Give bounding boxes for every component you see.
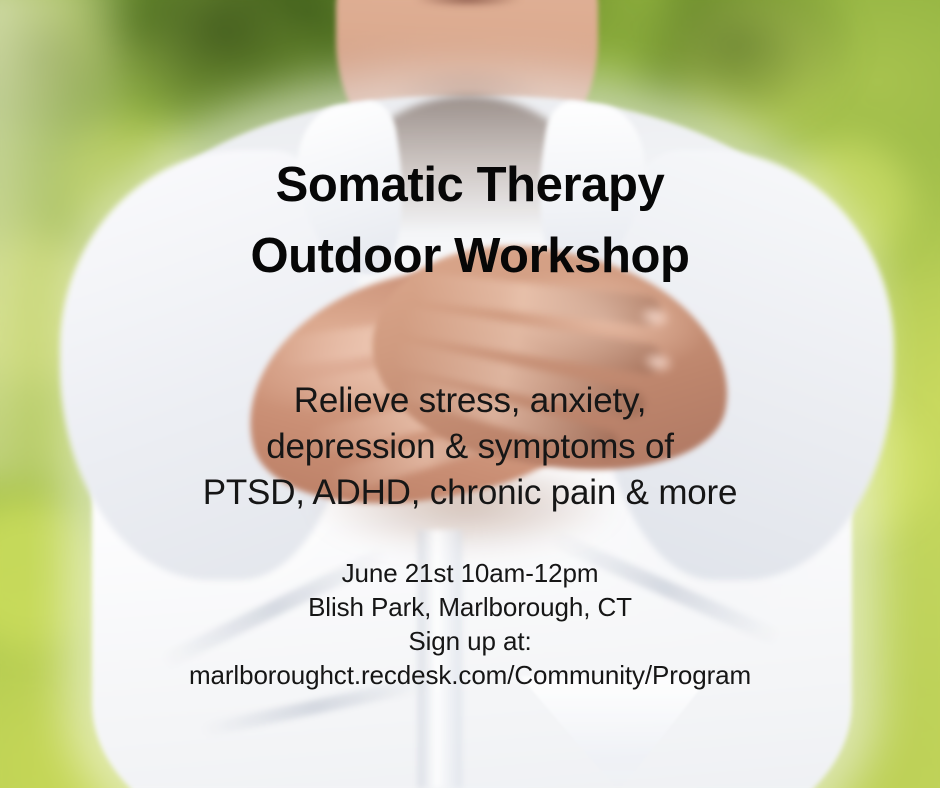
- headline-line-2: Outdoor Workshop: [0, 221, 940, 292]
- subhead-line-1: Relieve stress, anxiety,: [0, 378, 940, 424]
- signup-url[interactable]: marlboroughct.recdesk.com/Community/Prog…: [0, 658, 940, 692]
- signup-label: Sign up at:: [0, 624, 940, 658]
- poster-subheadline: Relieve stress, anxiety, depression & sy…: [0, 378, 940, 516]
- subhead-line-3: PTSD, ADHD, chronic pain & more: [0, 470, 940, 516]
- poster-headline: Somatic Therapy Outdoor Workshop: [0, 150, 940, 292]
- event-datetime: June 21st 10am-12pm: [0, 556, 940, 590]
- headline-line-1: Somatic Therapy: [0, 150, 940, 221]
- poster-text-layer: Somatic Therapy Outdoor Workshop Relieve…: [0, 0, 940, 788]
- subhead-line-2: depression & symptoms of: [0, 424, 940, 470]
- poster-details: June 21st 10am-12pm Blish Park, Marlboro…: [0, 556, 940, 692]
- event-flyer-poster: Somatic Therapy Outdoor Workshop Relieve…: [0, 0, 940, 788]
- event-location: Blish Park, Marlborough, CT: [0, 590, 940, 624]
